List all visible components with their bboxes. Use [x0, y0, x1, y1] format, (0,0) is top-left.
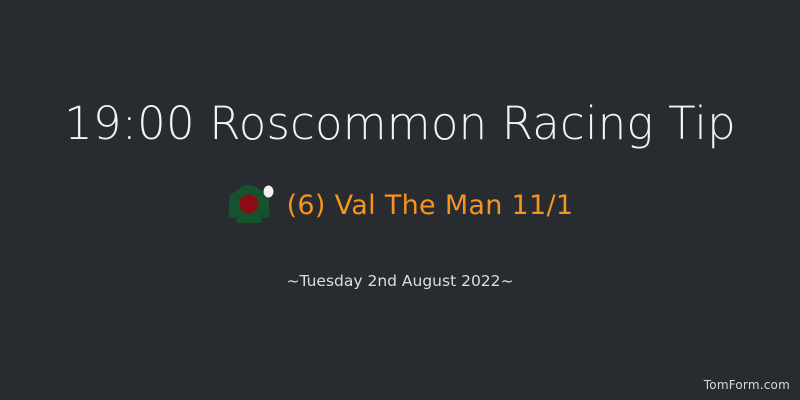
footer-brand-label: TomForm.com	[704, 378, 790, 392]
date-label: ~Tuesday 2nd August 2022~	[0, 271, 800, 291]
racing-silks-icon	[227, 183, 275, 229]
racing-tip-card: 19:00 Roscommon Racing Tip (6) Val The M…	[0, 0, 800, 400]
selection-label: (6) Val The Man 11/1	[287, 189, 574, 223]
selection-row: (6) Val The Man 11/1	[0, 183, 800, 229]
page-title: 19:00 Roscommon Racing Tip	[0, 96, 800, 152]
